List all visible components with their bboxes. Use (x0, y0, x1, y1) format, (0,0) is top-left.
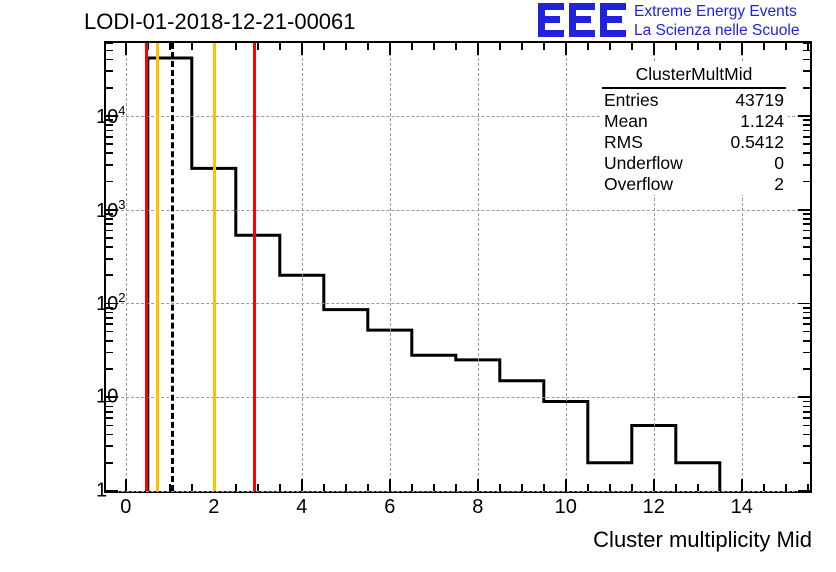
x-axis-minor-tick (631, 43, 633, 50)
x-axis-major-tick (301, 479, 303, 491)
y-axis-minor-tick (803, 340, 810, 342)
y-axis-minor-tick (803, 462, 810, 464)
x-axis-minor-tick (191, 43, 193, 50)
x-axis-minor-tick (499, 484, 501, 491)
y-axis-minor-tick (106, 181, 113, 183)
gridline-horizontal (106, 303, 810, 304)
stats-value: 43719 (735, 90, 784, 111)
x-axis-major-tick (565, 479, 567, 491)
y-axis-minor-tick (803, 70, 810, 72)
x-axis-tick-label: 14 (731, 496, 753, 519)
gridline-horizontal (106, 491, 810, 492)
y-axis-minor-tick (803, 312, 810, 314)
marker-line-cut-low-red (145, 43, 148, 491)
x-axis-minor-tick (257, 43, 259, 50)
y-axis-minor-tick (106, 42, 113, 44)
y-axis-minor-tick (803, 152, 810, 154)
x-axis-title: Cluster multiplicity Mid (593, 527, 812, 553)
x-axis-minor-tick (235, 484, 237, 491)
x-axis-minor-tick (345, 43, 347, 50)
y-axis-major-tick (798, 209, 810, 211)
x-axis-minor-tick (587, 43, 589, 50)
y-axis-minor-tick (803, 87, 810, 89)
x-axis-minor-tick (411, 43, 413, 50)
y-axis-minor-tick (106, 331, 113, 333)
y-axis-minor-tick (106, 136, 113, 138)
x-axis-minor-tick (455, 484, 457, 491)
x-axis-minor-tick (719, 484, 721, 491)
x-axis-tick-label: 10 (555, 496, 577, 519)
gridline-horizontal (106, 397, 810, 398)
x-axis-minor-tick (697, 43, 699, 50)
x-axis-minor-tick (785, 43, 787, 50)
marker-line-cut-high-red (253, 43, 256, 491)
y-axis-major-tick (798, 396, 810, 398)
y-axis-minor-tick (106, 143, 113, 145)
stats-row: Underflow0 (600, 153, 788, 174)
x-axis-minor-tick (543, 484, 545, 491)
x-axis-minor-tick (521, 484, 523, 491)
y-axis-minor-tick (106, 434, 113, 436)
y-axis-minor-tick (803, 352, 810, 354)
eee-letters-icon (538, 3, 628, 37)
gridline-vertical (390, 43, 391, 491)
y-axis-minor-tick (106, 164, 113, 166)
y-axis-minor-tick (803, 230, 810, 232)
eee-logo-text: Extreme Energy Events La Scienza nelle S… (634, 2, 799, 40)
y-axis-minor-tick (803, 50, 810, 52)
x-axis-tick-label: 8 (472, 496, 483, 519)
y-axis-minor-tick (106, 237, 113, 239)
x-axis-minor-tick (455, 43, 457, 50)
y-axis-major-tick (106, 490, 118, 492)
y-axis-minor-tick (106, 368, 113, 370)
stats-value: 0.5412 (730, 132, 784, 153)
x-axis-minor-tick (323, 484, 325, 491)
x-axis-minor-tick (675, 484, 677, 491)
x-axis-minor-tick (433, 43, 435, 50)
x-axis-major-tick (653, 479, 655, 491)
eee-logo-line2: La Scienza nelle Scuole (634, 21, 799, 40)
x-axis-minor-tick (763, 43, 765, 50)
x-axis-minor-tick (609, 43, 611, 50)
y-axis-minor-tick (803, 323, 810, 325)
gridline-vertical (478, 43, 479, 491)
x-axis-major-tick (389, 479, 391, 491)
gridline-vertical (126, 43, 127, 491)
x-axis-major-tick (653, 43, 655, 55)
y-axis-minor-tick (106, 317, 113, 319)
x-axis-minor-tick (697, 484, 699, 491)
y-axis-minor-tick (106, 411, 113, 413)
x-axis-minor-tick (521, 43, 523, 50)
stats-value: 2 (774, 174, 784, 195)
y-axis-major-tick (798, 303, 810, 305)
y-axis-minor-tick (106, 246, 113, 248)
x-axis-minor-tick (323, 43, 325, 50)
y-axis-minor-tick (106, 223, 113, 225)
y-axis-minor-tick (803, 317, 810, 319)
stats-value: 0 (774, 153, 784, 174)
y-axis-minor-tick (106, 50, 113, 52)
y-axis-minor-tick (803, 445, 810, 447)
y-axis-minor-tick (803, 307, 810, 309)
x-axis-minor-tick (763, 484, 765, 491)
x-axis-minor-tick (785, 484, 787, 491)
x-axis-minor-tick (543, 43, 545, 50)
stats-title: ClusterMultMid (602, 63, 786, 89)
x-axis-minor-tick (719, 43, 721, 50)
marker-line-mean-dashed (171, 43, 174, 491)
y-axis-minor-tick (803, 218, 810, 220)
page-title: LODI-01-2018-12-21-00061 (84, 9, 356, 35)
y-axis-minor-tick (803, 130, 810, 132)
eee-logo-line1: Extreme Energy Events (634, 2, 799, 21)
x-axis-major-tick (477, 43, 479, 55)
x-axis-major-tick (301, 43, 303, 55)
stats-row: Overflow2 (600, 174, 788, 195)
root-canvas: LODI-01-2018-12-21-00061 Extreme Energy … (0, 0, 836, 572)
x-axis-minor-tick (411, 484, 413, 491)
x-axis-minor-tick (433, 484, 435, 491)
y-axis-minor-tick (106, 352, 113, 354)
x-axis-major-tick (125, 479, 127, 491)
marker-line-cut-low-orange (156, 43, 159, 491)
y-axis-minor-tick (106, 340, 113, 342)
x-axis-minor-tick (499, 43, 501, 50)
x-axis-minor-tick (367, 43, 369, 50)
stats-key: RMS (604, 132, 643, 153)
y-axis-minor-tick (803, 213, 810, 215)
y-axis-minor-tick (803, 143, 810, 145)
stats-key: Underflow (604, 153, 683, 174)
stats-row: Mean1.124 (600, 111, 788, 132)
y-axis-minor-tick (803, 368, 810, 370)
y-axis-minor-tick (106, 462, 113, 464)
x-axis-major-tick (565, 43, 567, 55)
x-axis-tick-label: 6 (384, 496, 395, 519)
y-axis-minor-tick (803, 237, 810, 239)
x-axis-minor-tick (675, 43, 677, 50)
marker-line-cut-high-orange (213, 43, 216, 491)
stats-value: 1.124 (740, 111, 784, 132)
y-axis-minor-tick (803, 417, 810, 419)
stats-key: Entries (604, 90, 658, 111)
x-axis-major-tick (741, 43, 743, 55)
y-axis-minor-tick (803, 59, 810, 61)
stats-key: Mean (604, 111, 648, 132)
y-axis-minor-tick (106, 152, 113, 154)
y-axis-minor-tick (803, 406, 810, 408)
y-axis-minor-tick (803, 411, 810, 413)
x-axis-minor-tick (367, 484, 369, 491)
y-axis-minor-tick (106, 323, 113, 325)
y-axis-minor-tick (106, 230, 113, 232)
y-axis-minor-tick (803, 124, 810, 126)
y-axis-minor-tick (803, 136, 810, 138)
x-axis-tick-label: 4 (296, 496, 307, 519)
x-axis-major-tick (477, 479, 479, 491)
x-axis-major-tick (741, 479, 743, 491)
y-axis-major-tick (798, 115, 810, 117)
y-axis-minor-tick (106, 425, 113, 427)
eee-logo: Extreme Energy Events La Scienza nelle S… (538, 2, 834, 40)
y-axis-minor-tick (106, 417, 113, 419)
y-axis-minor-tick (106, 274, 113, 276)
y-axis-minor-tick (803, 181, 810, 183)
statistics-box: ClusterMultMid Entries43719Mean1.124RMS0… (600, 63, 788, 195)
y-axis-minor-tick (803, 223, 810, 225)
y-axis-minor-tick (803, 258, 810, 260)
x-axis-major-tick (125, 43, 127, 55)
y-axis-minor-tick (106, 70, 113, 72)
x-axis-minor-tick (587, 484, 589, 491)
stats-row: Entries43719 (600, 90, 788, 111)
y-axis-minor-tick (803, 274, 810, 276)
y-axis-minor-tick (803, 401, 810, 403)
y-axis-minor-tick (106, 258, 113, 260)
y-axis-major-tick (798, 490, 810, 492)
stats-key: Overflow (604, 174, 673, 195)
x-axis-minor-tick (609, 484, 611, 491)
x-axis-minor-tick (235, 43, 237, 50)
gridline-vertical (566, 43, 567, 491)
x-axis-minor-tick (257, 484, 259, 491)
y-axis-minor-tick (803, 246, 810, 248)
x-axis-tick-label: 12 (643, 496, 665, 519)
x-axis-minor-tick (345, 484, 347, 491)
y-axis-minor-tick (803, 434, 810, 436)
stats-row: RMS0.5412 (600, 132, 788, 153)
y-axis-minor-tick (803, 331, 810, 333)
gridline-horizontal (106, 210, 810, 211)
y-axis-minor-tick (106, 59, 113, 61)
y-axis-minor-tick (106, 130, 113, 132)
y-axis-minor-tick (803, 42, 810, 44)
x-axis-minor-tick (279, 43, 281, 50)
x-axis-tick-label: 2 (208, 496, 219, 519)
x-axis-minor-tick (279, 484, 281, 491)
gridline-vertical (302, 43, 303, 491)
y-axis-minor-tick (803, 119, 810, 121)
y-axis-minor-tick (106, 87, 113, 89)
y-axis-minor-tick (106, 445, 113, 447)
x-axis-tick-label: 0 (120, 496, 131, 519)
y-axis-minor-tick (803, 164, 810, 166)
x-axis-minor-tick (631, 484, 633, 491)
y-axis-minor-tick (803, 425, 810, 427)
x-axis-minor-tick (191, 484, 193, 491)
x-axis-major-tick (389, 43, 391, 55)
